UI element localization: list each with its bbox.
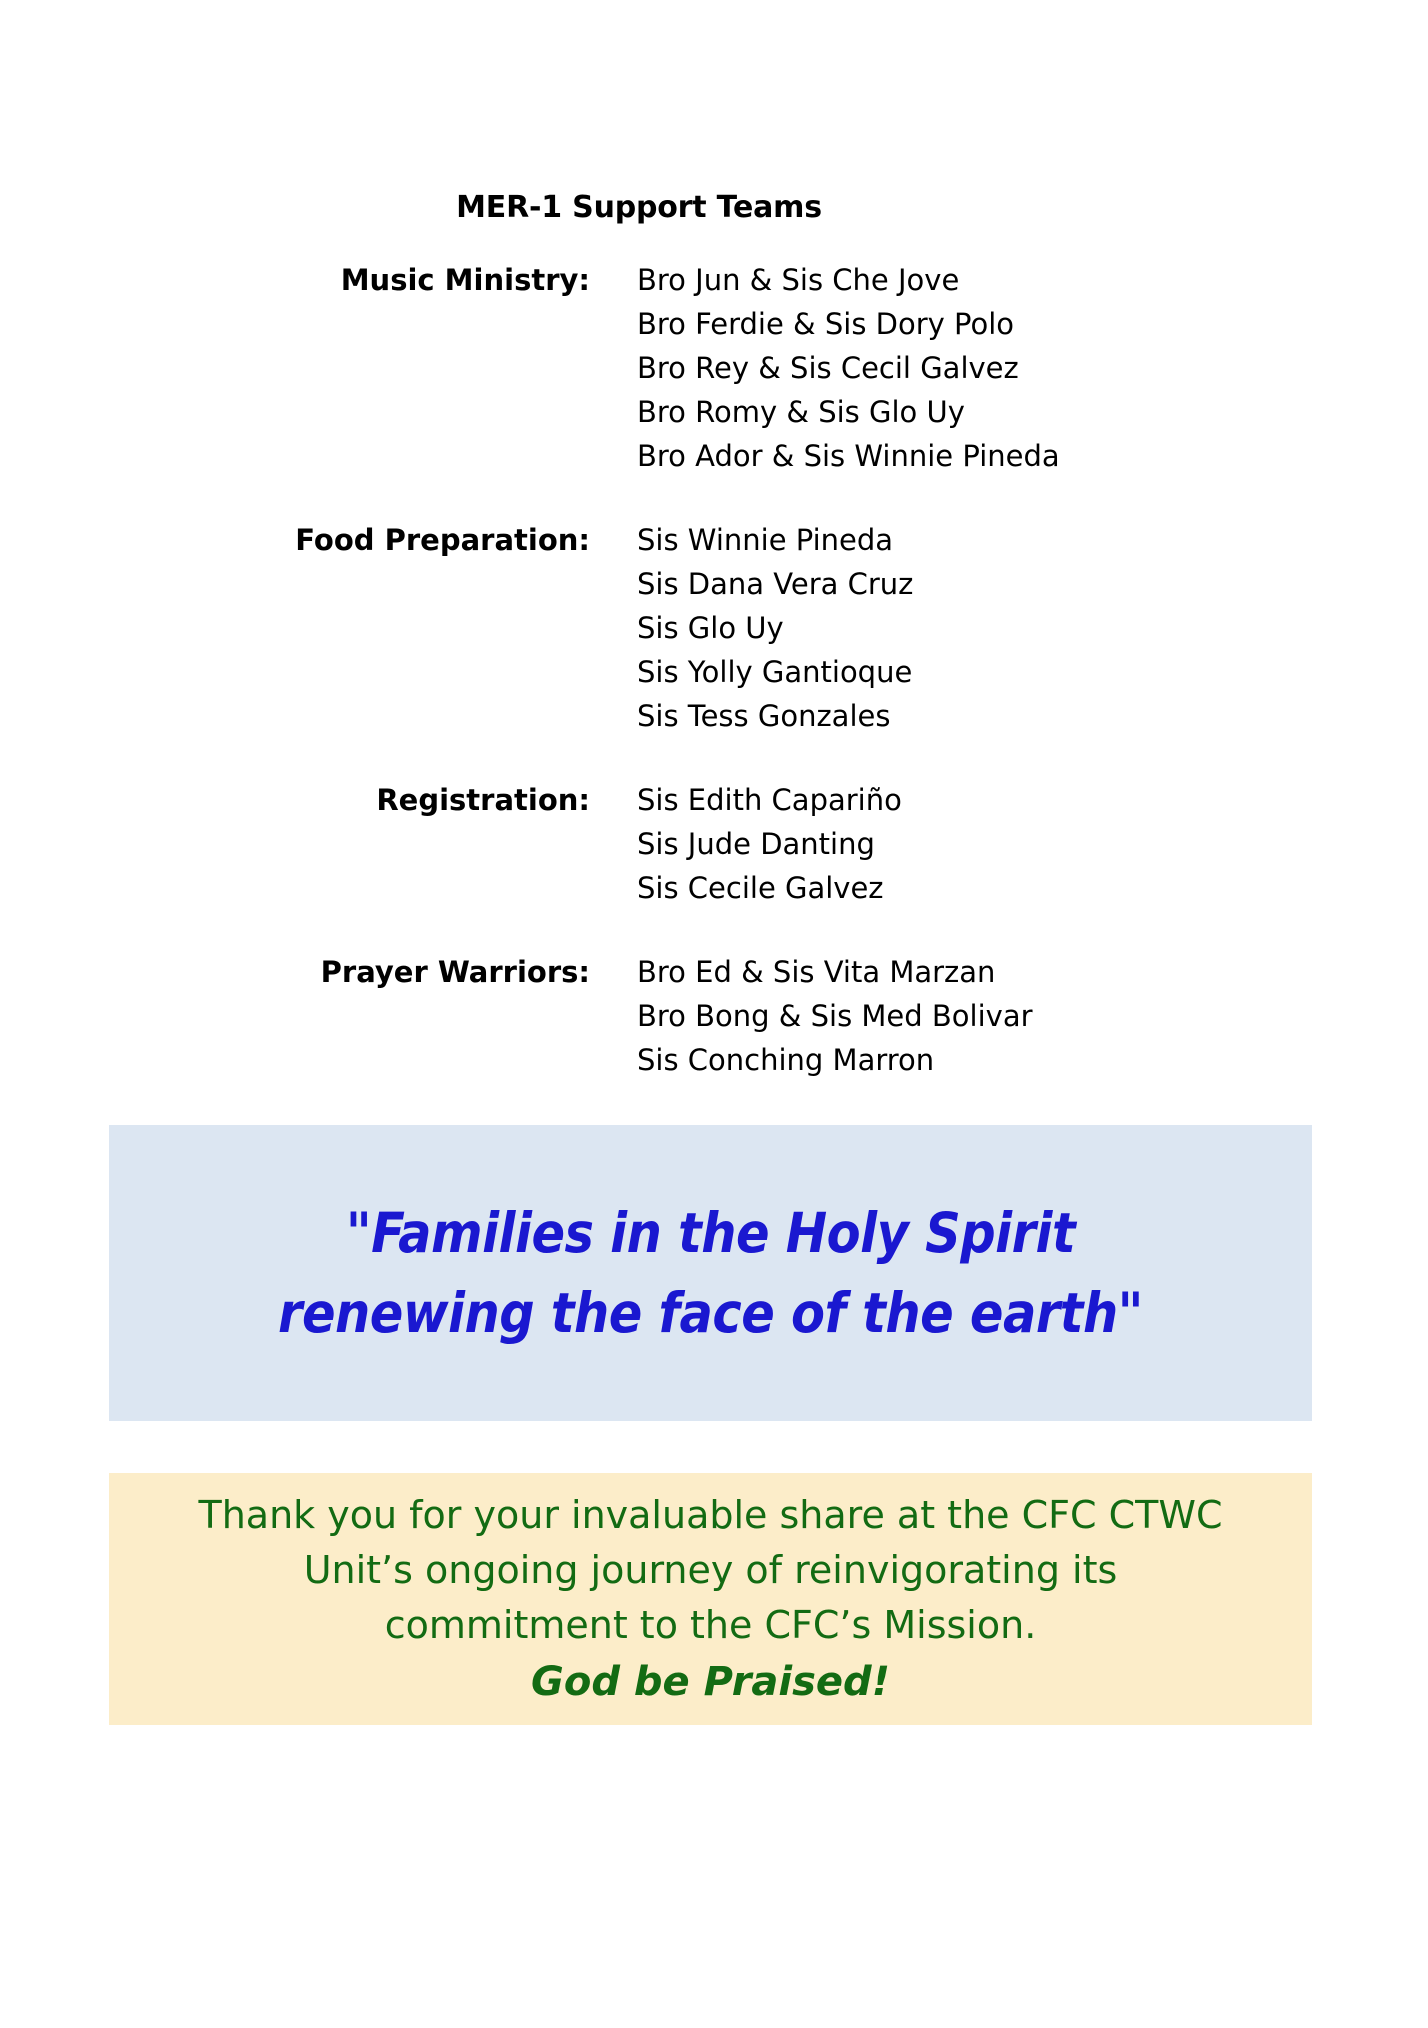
list-item: Bro Ferdie & Sis Dory Polo — [637, 302, 1190, 346]
list-item: Sis Winnie Pineda — [637, 518, 1190, 562]
team-label-registration: Registration: — [0, 778, 590, 822]
quote-text: "Families in the Holy Spirit renewing th… — [278, 1193, 1143, 1353]
list-item: Sis Jude Danting — [637, 822, 1190, 866]
quote-banner: "Families in the Holy Spirit renewing th… — [109, 1125, 1312, 1421]
list-item: Sis Yolly Gantioque — [637, 650, 1190, 694]
list-item: Bro Ador & Sis Winnie Pineda — [637, 434, 1190, 478]
team-row: Registration: Sis Edith Capariño Sis Jud… — [0, 778, 1190, 910]
thanks-final-line: God be Praised! — [109, 1653, 1312, 1711]
thanks-line-3: commitment to the CFC’s Mission. — [109, 1598, 1312, 1653]
team-members-prayer-warriors: Bro Ed & Sis Vita Marzan Bro Bong & Sis … — [590, 950, 1190, 1082]
team-label-prayer-warriors: Prayer Warriors: — [0, 950, 590, 994]
thanks-banner: Thank you for your invaluable share at t… — [109, 1473, 1312, 1725]
list-item: Bro Ed & Sis Vita Marzan — [637, 950, 1190, 994]
list-item: Sis Dana Vera Cruz — [637, 562, 1190, 606]
document-page: MER-1 Support Teams Music Ministry: Bro … — [0, 0, 1428, 2028]
team-row: Music Ministry: Bro Jun & Sis Che Jove B… — [0, 258, 1190, 478]
thanks-line-2: Unit’s ongoing journey of reinvigorating… — [109, 1543, 1312, 1598]
list-item: Sis Cecile Galvez — [637, 866, 1190, 910]
quote-line-1: "Families in the Holy Spirit — [278, 1193, 1143, 1273]
thanks-line-1: Thank you for your invaluable share at t… — [109, 1488, 1312, 1543]
team-row: Food Preparation: Sis Winnie Pineda Sis … — [0, 518, 1190, 738]
list-item: Sis Edith Capariño — [637, 778, 1190, 822]
team-row: Prayer Warriors: Bro Ed & Sis Vita Marza… — [0, 950, 1190, 1082]
list-item: Sis Conching Marron — [637, 1038, 1190, 1082]
team-members-registration: Sis Edith Capariño Sis Jude Danting Sis … — [590, 778, 1190, 910]
list-item: Sis Tess Gonzales — [637, 694, 1190, 738]
list-item: Bro Rey & Sis Cecil Galvez — [637, 346, 1190, 390]
list-item: Sis Glo Uy — [637, 606, 1190, 650]
page-title: MER-1 Support Teams — [0, 190, 1353, 225]
list-item: Bro Jun & Sis Che Jove — [637, 258, 1190, 302]
list-item: Bro Romy & Sis Glo Uy — [637, 390, 1190, 434]
quote-line-2: renewing the face of the earth" — [278, 1273, 1143, 1353]
team-members-music-ministry: Bro Jun & Sis Che Jove Bro Ferdie & Sis … — [590, 258, 1190, 478]
team-label-music-ministry: Music Ministry: — [0, 258, 590, 302]
team-label-food-preparation: Food Preparation: — [0, 518, 590, 562]
list-item: Bro Bong & Sis Med Bolivar — [637, 994, 1190, 1038]
support-teams-list: Music Ministry: Bro Jun & Sis Che Jove B… — [0, 258, 1190, 1122]
team-members-food-preparation: Sis Winnie Pineda Sis Dana Vera Cruz Sis… — [590, 518, 1190, 738]
thanks-text: Thank you for your invaluable share at t… — [109, 1488, 1312, 1711]
